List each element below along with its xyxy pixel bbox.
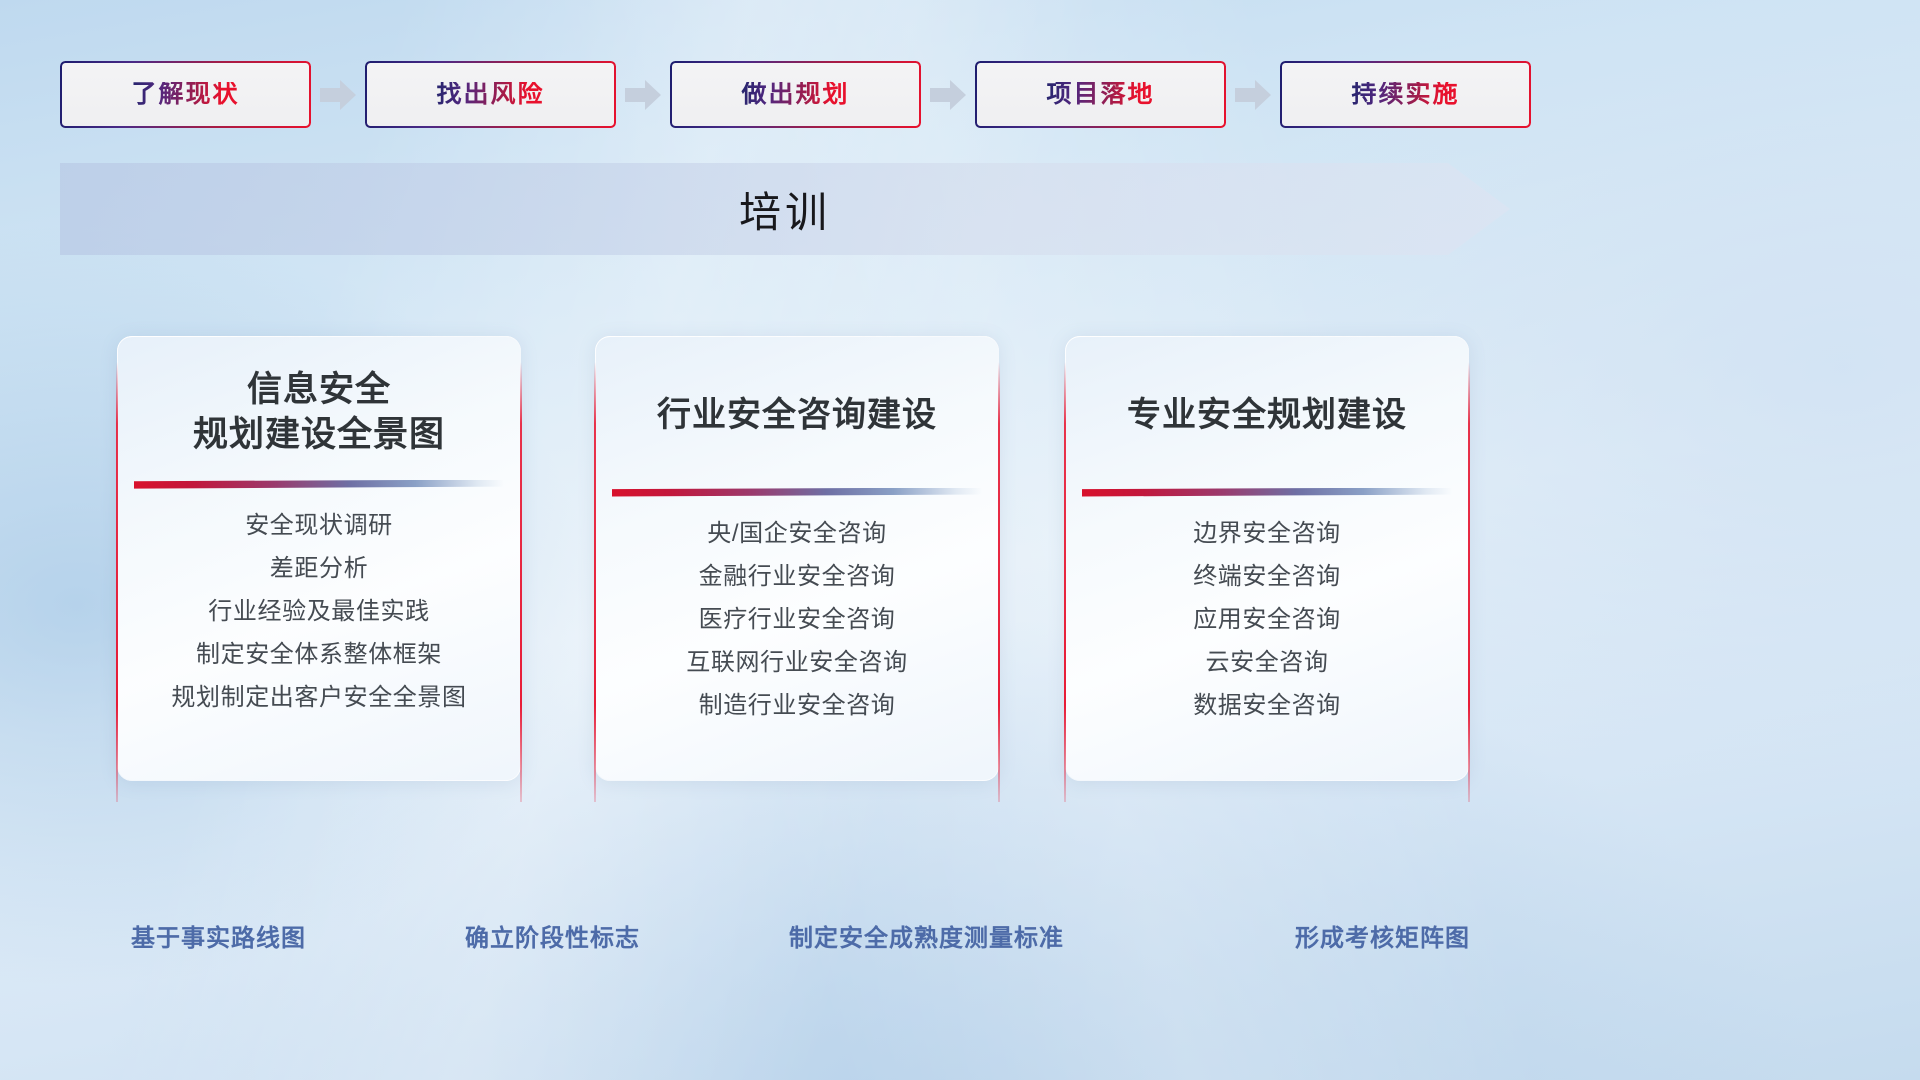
list-item: 终端安全咨询	[1193, 562, 1341, 592]
card-title: 专业安全规划建设	[1127, 394, 1407, 438]
footer-caption-1: 基于事实路线图	[131, 918, 306, 953]
training-banner: 培训	[60, 163, 1510, 255]
banner-title: 培训	[60, 163, 1510, 255]
card-industry-security-consulting[interactable]: 行业安全咨询建设 央/国企安全咨询 金融行业安全咨询 医疗行业安全咨询 互联网行…	[595, 336, 999, 781]
list-item: 边界安全咨询	[1193, 519, 1341, 549]
list-item: 应用安全咨询	[1193, 605, 1341, 635]
card-title: 信息安全 规划建设全景图	[193, 368, 445, 458]
step-label-1: 了解现状	[131, 82, 239, 107]
list-item: 云安全咨询	[1206, 648, 1329, 678]
list-item: 医疗行业安全咨询	[699, 605, 896, 635]
list-item: 安全现状调研	[245, 511, 393, 541]
step-label-2: 找出风险	[436, 82, 544, 107]
footer-caption-3: 制定安全成熟度测量标准	[789, 918, 1064, 953]
list-item: 制造行业安全咨询	[699, 691, 896, 721]
step-box-3[interactable]: 做出规划	[670, 61, 921, 128]
card-divider	[134, 480, 504, 489]
list-item: 差距分析	[270, 554, 368, 584]
step-box-1[interactable]: 了解现状	[60, 61, 311, 128]
list-item: 央/国企安全咨询	[707, 519, 886, 549]
step-label-4: 项目落地	[1046, 82, 1154, 107]
process-step-row: 了解现状 找出风险 做出规划 项目落地	[60, 61, 1860, 128]
card-divider	[1082, 488, 1452, 497]
step-box-2[interactable]: 找出风险	[365, 61, 616, 128]
card-list: 央/国企安全咨询 金融行业安全咨询 医疗行业安全咨询 互联网行业安全咨询 制造行…	[617, 519, 977, 761]
list-item: 规划制定出客户安全全景图	[171, 683, 466, 713]
step-box-5[interactable]: 持续实施	[1280, 61, 1531, 128]
step-label-3: 做出规划	[741, 82, 849, 107]
slide-stage: 了解现状 找出风险 做出规划 项目落地	[0, 0, 1920, 1080]
card-divider	[612, 488, 982, 497]
list-item: 数据安全咨询	[1193, 691, 1341, 721]
arrow-right-icon	[930, 78, 966, 112]
step-label-5: 持续实施	[1351, 82, 1459, 107]
card-row: 信息安全 规划建设全景图 安全现状调研 差距分析 行业经验及最佳实践 制定安全体…	[0, 336, 1920, 781]
list-item: 行业经验及最佳实践	[208, 597, 429, 627]
arrow-right-icon	[320, 78, 356, 112]
arrow-right-icon	[1235, 78, 1271, 112]
card-list: 边界安全咨询 终端安全咨询 应用安全咨询 云安全咨询 数据安全咨询	[1087, 519, 1447, 761]
footer-caption-2: 确立阶段性标志	[465, 918, 640, 953]
list-item: 金融行业安全咨询	[699, 562, 896, 592]
card-title: 行业安全咨询建设	[657, 394, 937, 438]
card-list: 安全现状调研 差距分析 行业经验及最佳实践 制定安全体系整体框架 规划制定出客户…	[139, 511, 499, 761]
list-item: 制定安全体系整体框架	[196, 640, 442, 670]
footer-caption-4: 形成考核矩阵图	[1295, 918, 1470, 953]
list-item: 互联网行业安全咨询	[686, 648, 907, 678]
card-info-security-panorama[interactable]: 信息安全 规划建设全景图 安全现状调研 差距分析 行业经验及最佳实践 制定安全体…	[117, 336, 521, 781]
step-box-4[interactable]: 项目落地	[975, 61, 1226, 128]
arrow-right-icon	[625, 78, 661, 112]
card-professional-security-planning[interactable]: 专业安全规划建设 边界安全咨询 终端安全咨询 应用安全咨询 云安全咨询 数据安全…	[1065, 336, 1469, 781]
